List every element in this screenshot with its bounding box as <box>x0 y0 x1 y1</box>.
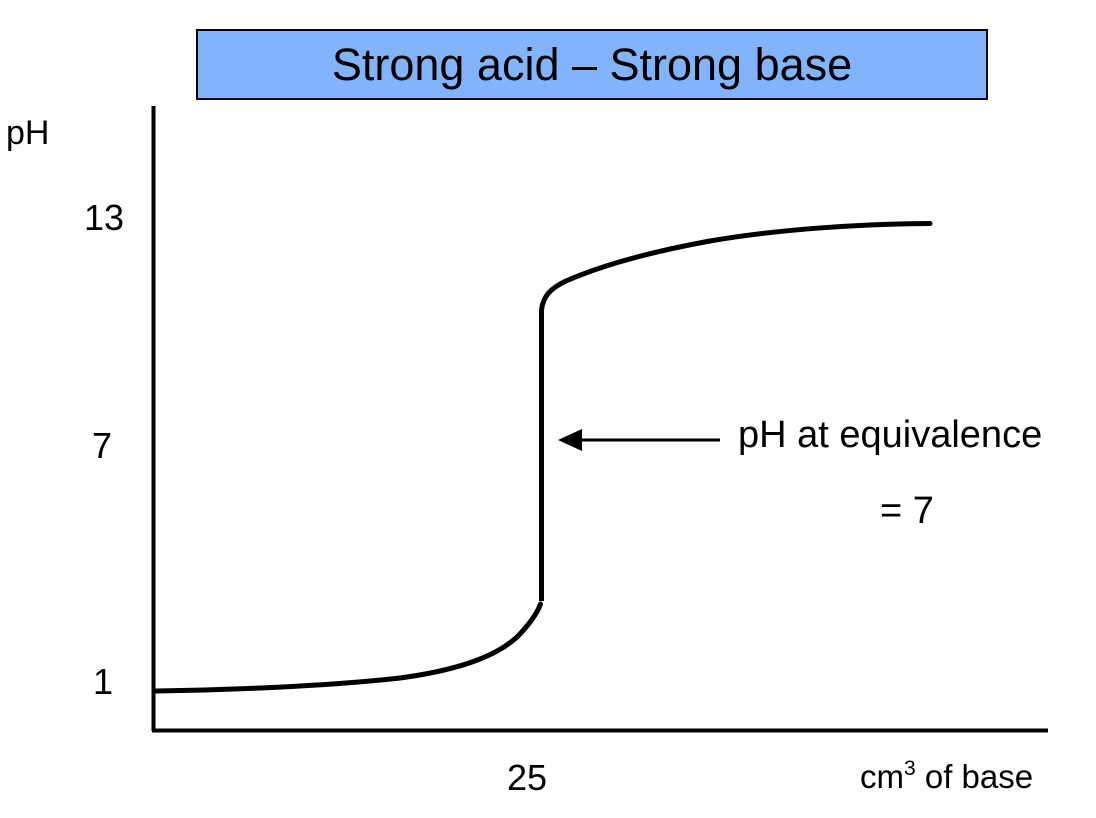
x-axis-label-exponent: 3 <box>904 757 916 780</box>
x-tick-label-25: 25 <box>507 760 547 796</box>
curve-upper-branch <box>542 224 931 311</box>
titration-curve-chart <box>0 0 1096 818</box>
x-axis-label-suffix: of base <box>916 758 1033 795</box>
y-axis-label: pH <box>6 116 49 150</box>
x-axis-label-unit: cm <box>860 758 904 795</box>
x-axis-label: cm3 of base <box>860 760 1033 793</box>
slide-canvas: Strong acid – Strong base pH 13 7 1 25 c… <box>0 0 1096 818</box>
annotation-text-line2: = 7 <box>880 492 934 530</box>
y-tick-label-1: 1 <box>93 664 113 700</box>
annotation-arrow-head <box>558 429 582 451</box>
y-tick-label-7: 7 <box>92 428 112 464</box>
annotation-text-line1: pH at equivalence <box>738 416 1042 454</box>
curve-lower-branch <box>156 604 541 691</box>
y-tick-label-13: 13 <box>84 200 124 236</box>
